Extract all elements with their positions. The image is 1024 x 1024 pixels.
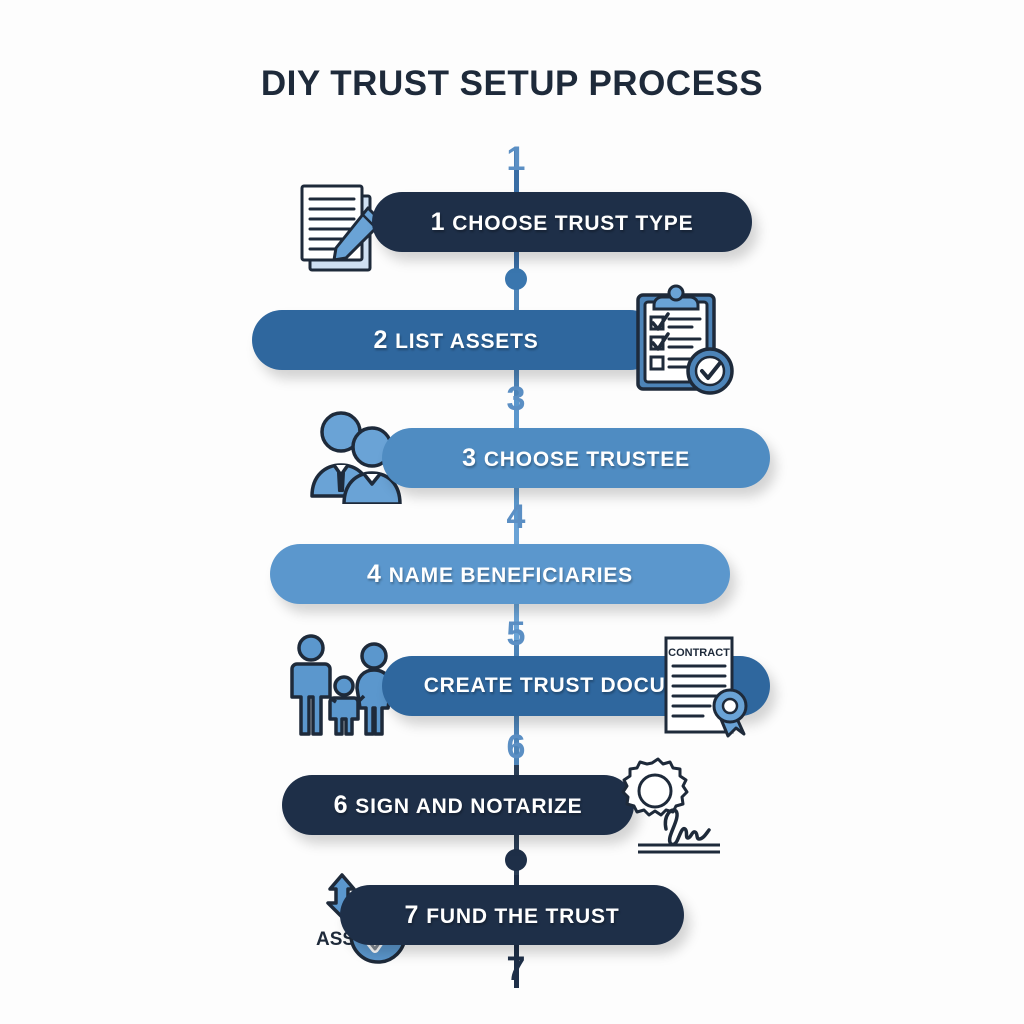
timeline-number-3: 3 — [476, 380, 556, 419]
step-pill-3[interactable]: 3CHOOSE TRUSTEE — [382, 428, 770, 488]
timeline-number-6: 6 — [476, 728, 556, 767]
timeline-number-5: 5 — [476, 615, 556, 654]
contract-caption: CONTRACT — [668, 647, 730, 659]
step-label-6: 6SIGN AND NOTARIZE — [282, 791, 634, 820]
page-title: DIY TRUST SETUP PROCESS — [0, 64, 1024, 104]
step-label-4: 4NAME BENEFICIARIES — [270, 560, 730, 589]
timeline-number-1: 1 — [476, 140, 556, 179]
clipboard-checklist-icon — [628, 283, 738, 398]
step-label-1: 1CHOOSE TRUST TYPE — [372, 208, 752, 237]
step-pill-6[interactable]: 6SIGN AND NOTARIZE — [282, 775, 634, 835]
step-row-2: 2LIST ASSETS — [0, 310, 1024, 382]
infographic-canvas: DIY TRUST SETUP PROCESS 1 3 4 5 6 7 — [0, 0, 1024, 1024]
step-label-2: 2LIST ASSETS — [252, 326, 660, 355]
step-row-7: ASSET 7FUND THE TRUST — [0, 885, 1024, 957]
step-pill-1[interactable]: 1CHOOSE TRUST TYPE — [372, 192, 752, 252]
family-icon — [286, 634, 396, 738]
step-row-4: 4NAME BENEFICIARIES — [0, 544, 1024, 616]
step-pill-7[interactable]: 7FUND THE TRUST — [340, 885, 684, 945]
step-row-6: 6SIGN AND NOTARIZE — [0, 775, 1024, 847]
notary-seal-signature-icon — [614, 757, 732, 857]
step-pill-2[interactable]: 2LIST ASSETS — [252, 310, 660, 370]
timeline-number-4: 4 — [476, 498, 556, 537]
step-row-1: 1CHOOSE TRUST TYPE — [0, 192, 1024, 264]
step-row-3: 3CHOOSE TRUSTEE — [0, 428, 1024, 500]
step-pill-4[interactable]: 4NAME BENEFICIARIES — [270, 544, 730, 604]
contract-seal-icon: CONTRACT — [658, 634, 758, 744]
timeline-dot-1 — [505, 268, 527, 290]
timeline-dot-2 — [505, 849, 527, 871]
step-row-5: CREATE TRUST DOCUMENT CONTRACT — [0, 656, 1024, 728]
step-label-7: 7FUND THE TRUST — [340, 901, 684, 930]
step-label-3: 3CHOOSE TRUSTEE — [382, 444, 770, 473]
